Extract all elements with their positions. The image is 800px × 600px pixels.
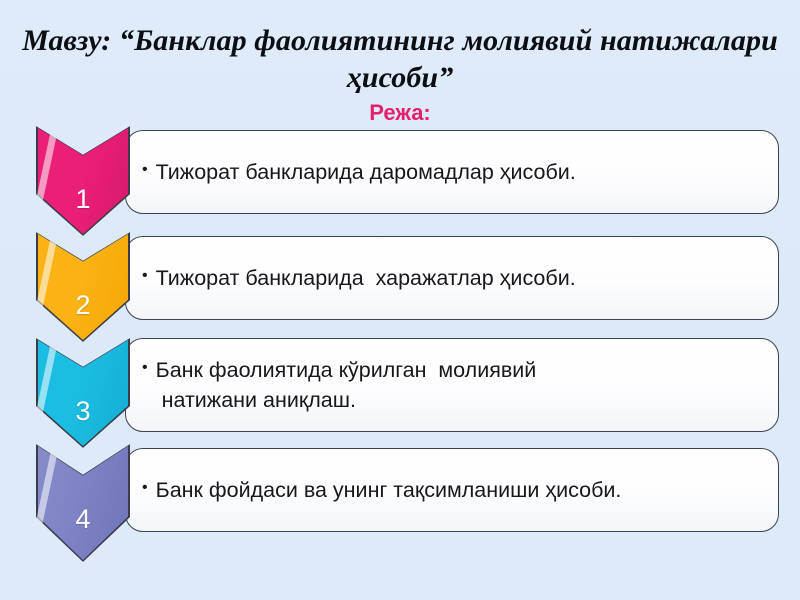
chevron-4-number: 4 bbox=[36, 506, 130, 533]
slide-canvas: Мавзу: “Банклар фаолиятининг молиявий на… bbox=[0, 0, 800, 600]
chevron-1[interactable] bbox=[36, 126, 130, 236]
plan-item-text-3: Банк фаолиятида кўрилган молиявий натижа… bbox=[156, 355, 537, 415]
chevron-2-number: 2 bbox=[36, 292, 130, 319]
bullet-icon-2: • bbox=[142, 261, 156, 291]
chevron-3-number: 3 bbox=[36, 398, 130, 425]
plan-item-text-2: Тижорат банкларида харажатлар ҳисоби. bbox=[156, 263, 576, 293]
chevron-2-fill bbox=[38, 234, 128, 340]
chevron-3[interactable] bbox=[36, 338, 130, 448]
plan-item-text-4: Банк фойдаси ва унинг тақсимланиши ҳисоб… bbox=[156, 475, 622, 505]
plan-textbox-4[interactable]: • Банк фойдаси ва унинг тақсимланиши ҳис… bbox=[125, 448, 779, 532]
plan-label: Режа: bbox=[0, 101, 800, 125]
chevron-1-fill bbox=[38, 128, 128, 234]
title-block: Мавзу: “Банклар фаолиятининг молиявий на… bbox=[14, 22, 786, 96]
chevron-4[interactable] bbox=[36, 444, 130, 562]
chevron-1-number: 1 bbox=[36, 186, 130, 213]
plan-textbox-2[interactable]: • Тижорат банкларида харажатлар ҳисоби. bbox=[125, 236, 779, 320]
plan-textbox-3[interactable]: • Банк фаолиятида кўрилган молиявий нати… bbox=[125, 338, 779, 432]
chevron-4-fill bbox=[38, 446, 128, 560]
bullet-icon-4: • bbox=[142, 473, 156, 503]
page-title: Мавзу: “Банклар фаолиятининг молиявий на… bbox=[14, 22, 786, 96]
plan-item-text-1: Тижорат банкларида даромадлар ҳисоби. bbox=[156, 157, 576, 187]
bullet-icon-3: • bbox=[142, 353, 156, 383]
bullet-icon-1: • bbox=[142, 155, 156, 185]
chevron-2[interactable] bbox=[36, 232, 130, 342]
chevron-3-fill bbox=[38, 340, 128, 446]
plan-textbox-1[interactable]: • Тижорат банкларида даромадлар ҳисоби. bbox=[125, 130, 779, 214]
